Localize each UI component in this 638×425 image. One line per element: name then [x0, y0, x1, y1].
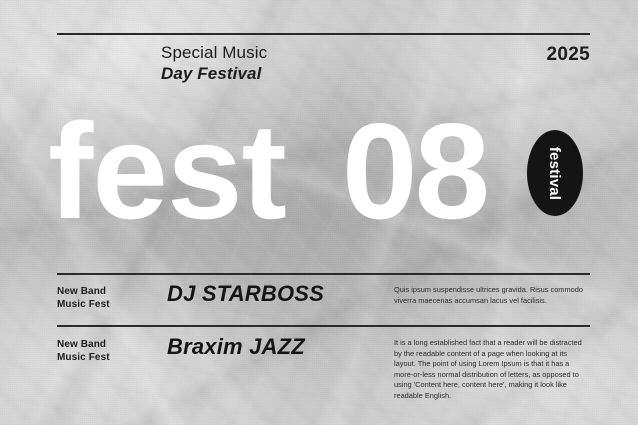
lineup-divider-rule-one	[57, 273, 590, 275]
lineup-description: Quis ipsum suspendisse ultrices gravida.…	[394, 285, 584, 306]
poster-subtitle-line-two: Day Festival	[161, 63, 267, 84]
poster-subtitle: Special Music Day Festival	[161, 42, 267, 84]
poster-subtitle-line-one: Special Music	[161, 42, 267, 63]
headline-word: fest	[48, 95, 286, 247]
poster-year: 2025	[547, 44, 590, 66]
lineup-band-name: DJ STARBOSS	[167, 281, 324, 307]
lineup-divider-rule-two	[57, 325, 590, 327]
poster-content: Special Music Day Festival 2025 fest08 f…	[0, 0, 638, 425]
lineup-band-name: Braxim JAZZ	[167, 334, 305, 360]
festival-badge: festival	[527, 130, 583, 216]
lineup-kicker: New Band Music Fest	[57, 285, 110, 311]
lineup-kicker-line-one: New Band	[57, 338, 110, 351]
poster-headline: fest08	[48, 106, 528, 236]
lineup-kicker-line-two: Music Fest	[57, 351, 110, 364]
festival-poster: Special Music Day Festival 2025 fest08 f…	[0, 0, 638, 425]
lineup-kicker: New Band Music Fest	[57, 338, 110, 364]
festival-badge-label: festival	[546, 146, 563, 199]
lineup-kicker-line-one: New Band	[57, 285, 110, 298]
headline-number: 08	[342, 95, 487, 247]
lineup-kicker-line-two: Music Fest	[57, 298, 110, 311]
lineup-description: It is a long established fact that a rea…	[394, 338, 584, 401]
header-divider-rule	[57, 33, 590, 35]
